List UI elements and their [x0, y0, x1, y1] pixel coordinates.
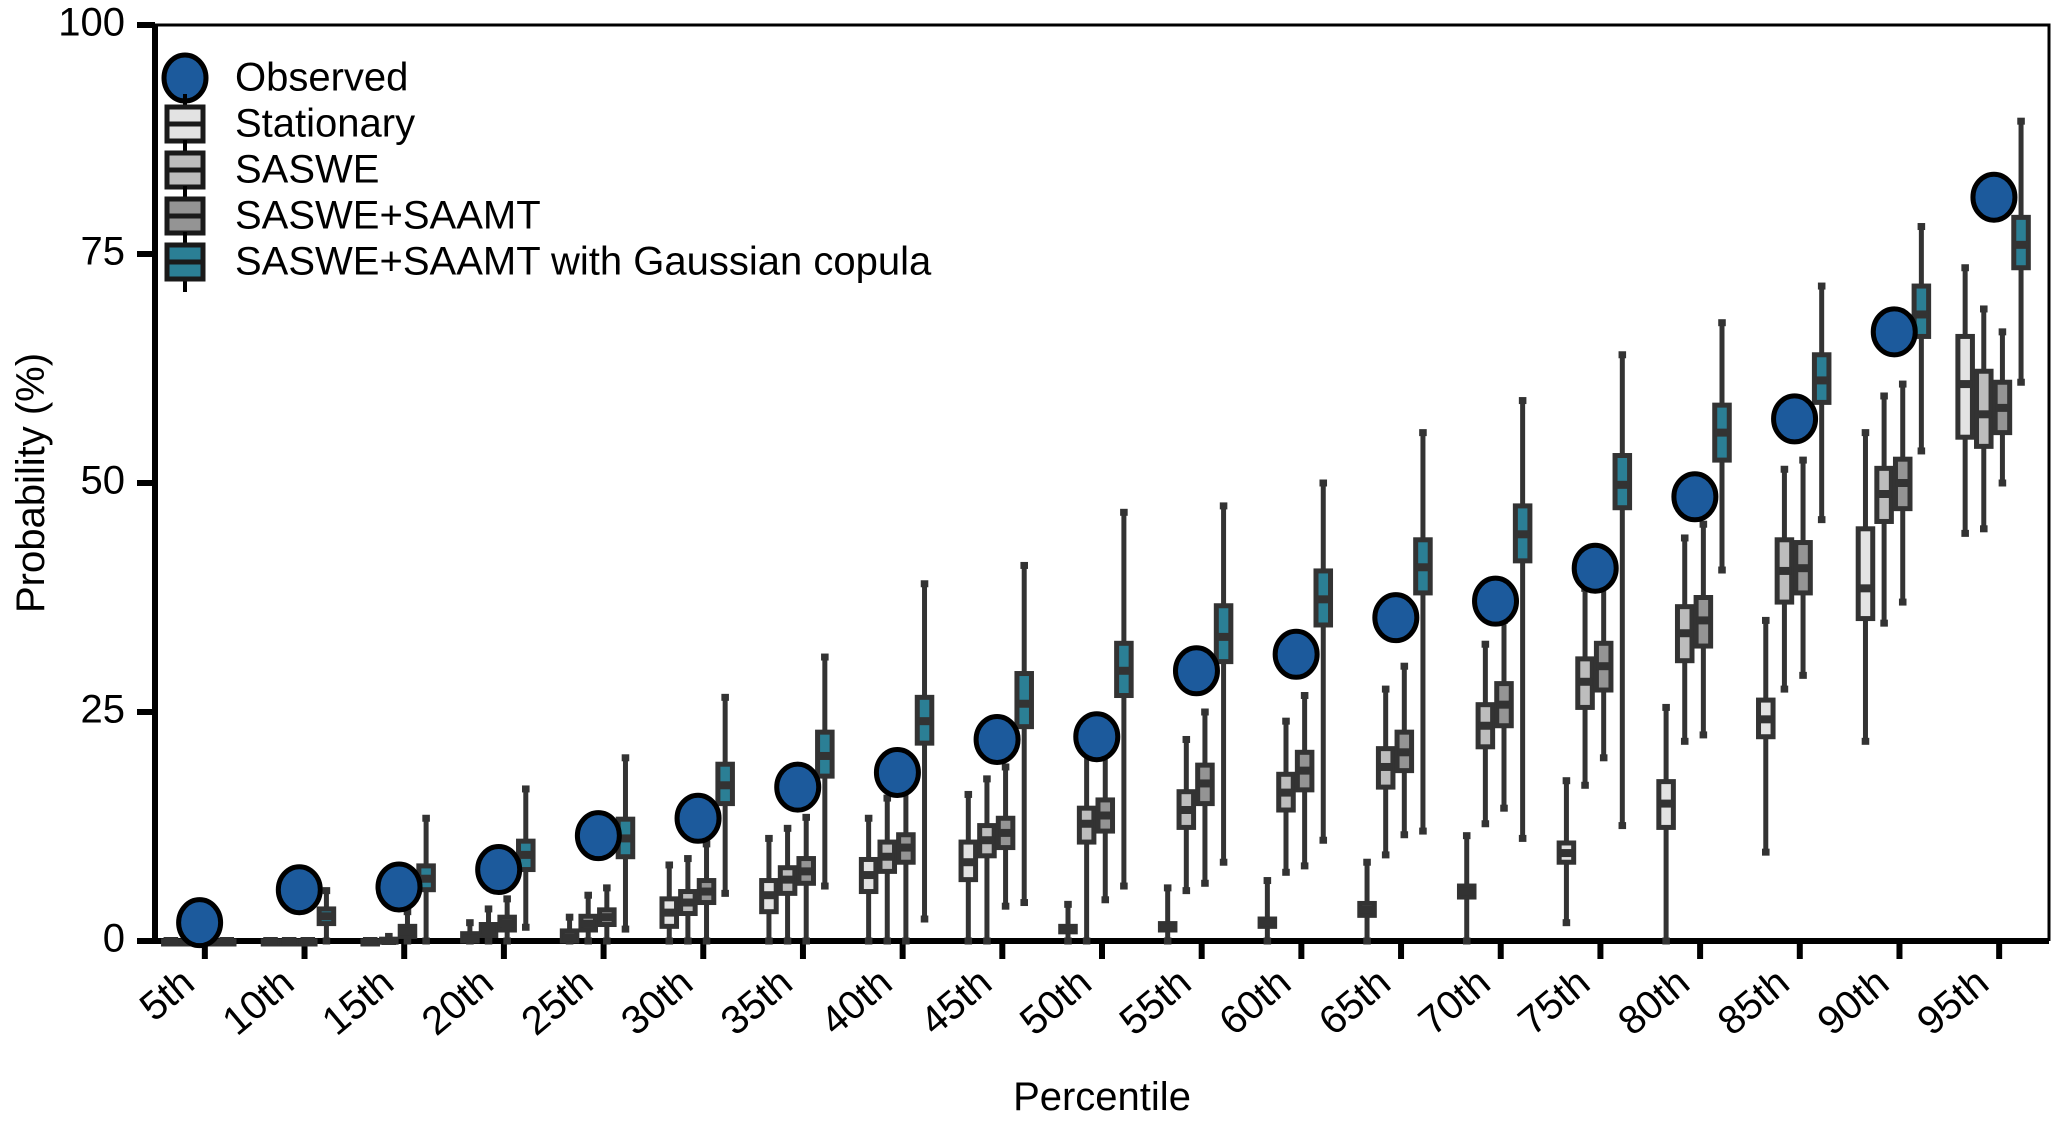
boxplot: [718, 697, 733, 893]
boxplot: [1061, 904, 1076, 941]
x-tick-label: 45th: [912, 960, 1000, 1044]
boxplot: [1759, 620, 1774, 852]
boxplot: [382, 936, 397, 942]
y-axis-title: Probability (%): [9, 353, 53, 613]
boxplot: [1715, 323, 1730, 570]
boxplot: [1117, 512, 1132, 886]
observed-point: [1674, 474, 1716, 520]
boxplot: [899, 789, 914, 941]
boxplot: [1397, 666, 1412, 835]
boxplot: [1696, 524, 1711, 735]
boxplot: [2014, 121, 2029, 382]
observed-point: [1175, 648, 1217, 694]
boxplot: [1416, 433, 1431, 831]
boxplot: [1297, 696, 1312, 866]
boxplot: [1977, 309, 1992, 529]
observed-point: [777, 764, 819, 810]
boxplot: [980, 779, 995, 941]
boxplot: [1995, 332, 2010, 483]
y-axis: 0255075100Probability (%): [9, 1, 155, 961]
boxplot: [1459, 836, 1474, 941]
x-tick-label: 75th: [1510, 960, 1598, 1044]
boxplot: [1858, 433, 1873, 742]
x-axis-title: Percentile: [1013, 1075, 1191, 1119]
x-tick-label: 20th: [414, 960, 502, 1044]
boxplot-chart: 0255075100Probability (%)5th10th15th20th…: [0, 0, 2067, 1146]
boxplot: [282, 941, 297, 944]
boxplot: [363, 941, 378, 944]
legend-item: SASWE+SAAMT: [167, 186, 541, 246]
x-tick-label: 60th: [1211, 960, 1299, 1044]
boxplot: [961, 794, 976, 941]
boxplot: [400, 912, 415, 941]
observed-point: [378, 864, 420, 910]
boxplot: [1216, 506, 1231, 862]
legend-item: Observed: [164, 55, 408, 101]
y-tick-label: 25: [81, 688, 126, 732]
observed-point: [577, 813, 619, 859]
boxplot: [1615, 355, 1630, 826]
boxplot: [463, 923, 478, 941]
observed-point: [478, 847, 520, 893]
x-tick-label: 90th: [1809, 960, 1897, 1044]
legend-item: Stationary: [167, 94, 415, 154]
observed-point: [1774, 396, 1816, 442]
boxplot: [1098, 749, 1113, 900]
boxplot: [1360, 862, 1375, 941]
boxplot: [1478, 644, 1493, 824]
x-tick-label: 10th: [214, 960, 302, 1044]
boxplot: [1814, 286, 1829, 520]
boxplot: [500, 899, 515, 941]
boxplot: [1659, 707, 1674, 941]
x-tick-label: 85th: [1710, 960, 1798, 1044]
boxplot: [880, 798, 895, 941]
observed-point: [278, 867, 320, 913]
x-tick-label: 55th: [1112, 960, 1200, 1044]
observed-point: [1873, 309, 1915, 355]
boxplot: [998, 767, 1013, 906]
boxplot: [780, 828, 795, 941]
legend-item: SASWE: [167, 140, 379, 200]
boxplot: [1796, 460, 1811, 675]
x-tick-label: 40th: [812, 960, 900, 1044]
boxplot: [164, 941, 179, 944]
boxplot: [519, 789, 534, 927]
figure-root: 0255075100Probability (%)5th10th15th20th…: [0, 0, 2067, 1146]
boxplot: [1578, 588, 1593, 785]
observed-point: [1475, 578, 1517, 624]
x-tick-label: 70th: [1411, 960, 1499, 1044]
observed-point: [1375, 595, 1417, 641]
boxplot: [818, 657, 833, 886]
boxplot: [1378, 689, 1393, 855]
boxplot: [762, 838, 777, 941]
x-axis: 5th10th15th20th25th30th35th40th45th50th5…: [132, 941, 1999, 1119]
boxplot: [581, 895, 596, 941]
boxplot: [1895, 384, 1910, 602]
boxplot: [1515, 401, 1530, 839]
legend: ObservedStationarySASWESASWE+SAAMTSASWE+…: [164, 55, 932, 292]
boxplot: [600, 888, 615, 941]
boxplot: [263, 941, 278, 944]
observed-point: [677, 795, 719, 841]
observed-point: [876, 749, 918, 795]
legend-label: SASWE: [235, 148, 379, 192]
boxplot: [699, 844, 714, 941]
observed-point: [1076, 714, 1118, 760]
x-tick-label: 35th: [713, 960, 801, 1044]
box-iqr: [1858, 529, 1873, 619]
boxplot: [562, 917, 577, 941]
box-iqr: [1977, 371, 1992, 446]
boxplot: [1877, 396, 1892, 623]
series-3: [201, 332, 2010, 944]
boxplot: [219, 941, 234, 944]
boxplot: [1958, 268, 1973, 534]
legend-label: SASWE+SAAMT: [235, 194, 541, 238]
boxplot: [1198, 712, 1213, 883]
observed-point: [1574, 545, 1616, 591]
boxplot: [1079, 753, 1094, 941]
boxplot: [799, 817, 814, 941]
boxplot: [1596, 575, 1611, 758]
observed-point: [976, 716, 1018, 762]
boxplot: [1160, 888, 1175, 941]
boxplot: [1677, 538, 1692, 741]
boxplot: [861, 818, 876, 941]
boxplot: [1279, 721, 1294, 872]
boxplot: [301, 941, 316, 944]
y-tick-label: 75: [81, 230, 126, 274]
y-tick-label: 100: [58, 1, 125, 45]
legend-label: Stationary: [235, 102, 415, 146]
x-tick-label: 30th: [613, 960, 701, 1044]
boxplot: [681, 859, 696, 941]
x-tick-label: 65th: [1311, 960, 1399, 1044]
x-tick-label: 50th: [1012, 960, 1100, 1044]
x-tick-label: 95th: [1909, 960, 1997, 1044]
boxplot: [1260, 881, 1275, 941]
observed-point: [179, 900, 221, 946]
boxplot: [1497, 620, 1512, 808]
legend-label: Observed: [235, 56, 408, 100]
x-tick-label: 15th: [314, 960, 402, 1044]
plot-area: 0255075100Probability (%)5th10th15th20th…: [9, 1, 2049, 1119]
x-tick-label: 80th: [1610, 960, 1698, 1044]
boxplot: [1559, 781, 1574, 923]
boxplot: [1179, 739, 1194, 890]
boxplot: [917, 584, 932, 919]
legend-label: SASWE+SAAMT with Gaussian copula: [235, 240, 932, 284]
observed-point: [1973, 174, 2015, 220]
x-tick-label: 5th: [132, 960, 203, 1029]
legend-item: SASWE+SAAMT with Gaussian copula: [167, 232, 932, 292]
boxplot: [1777, 469, 1792, 689]
y-tick-label: 50: [81, 459, 126, 503]
y-tick-label: 0: [103, 917, 125, 961]
observed-point: [1275, 631, 1317, 677]
x-tick-label: 25th: [513, 960, 601, 1044]
boxplot: [481, 909, 496, 941]
boxplot: [662, 865, 677, 941]
